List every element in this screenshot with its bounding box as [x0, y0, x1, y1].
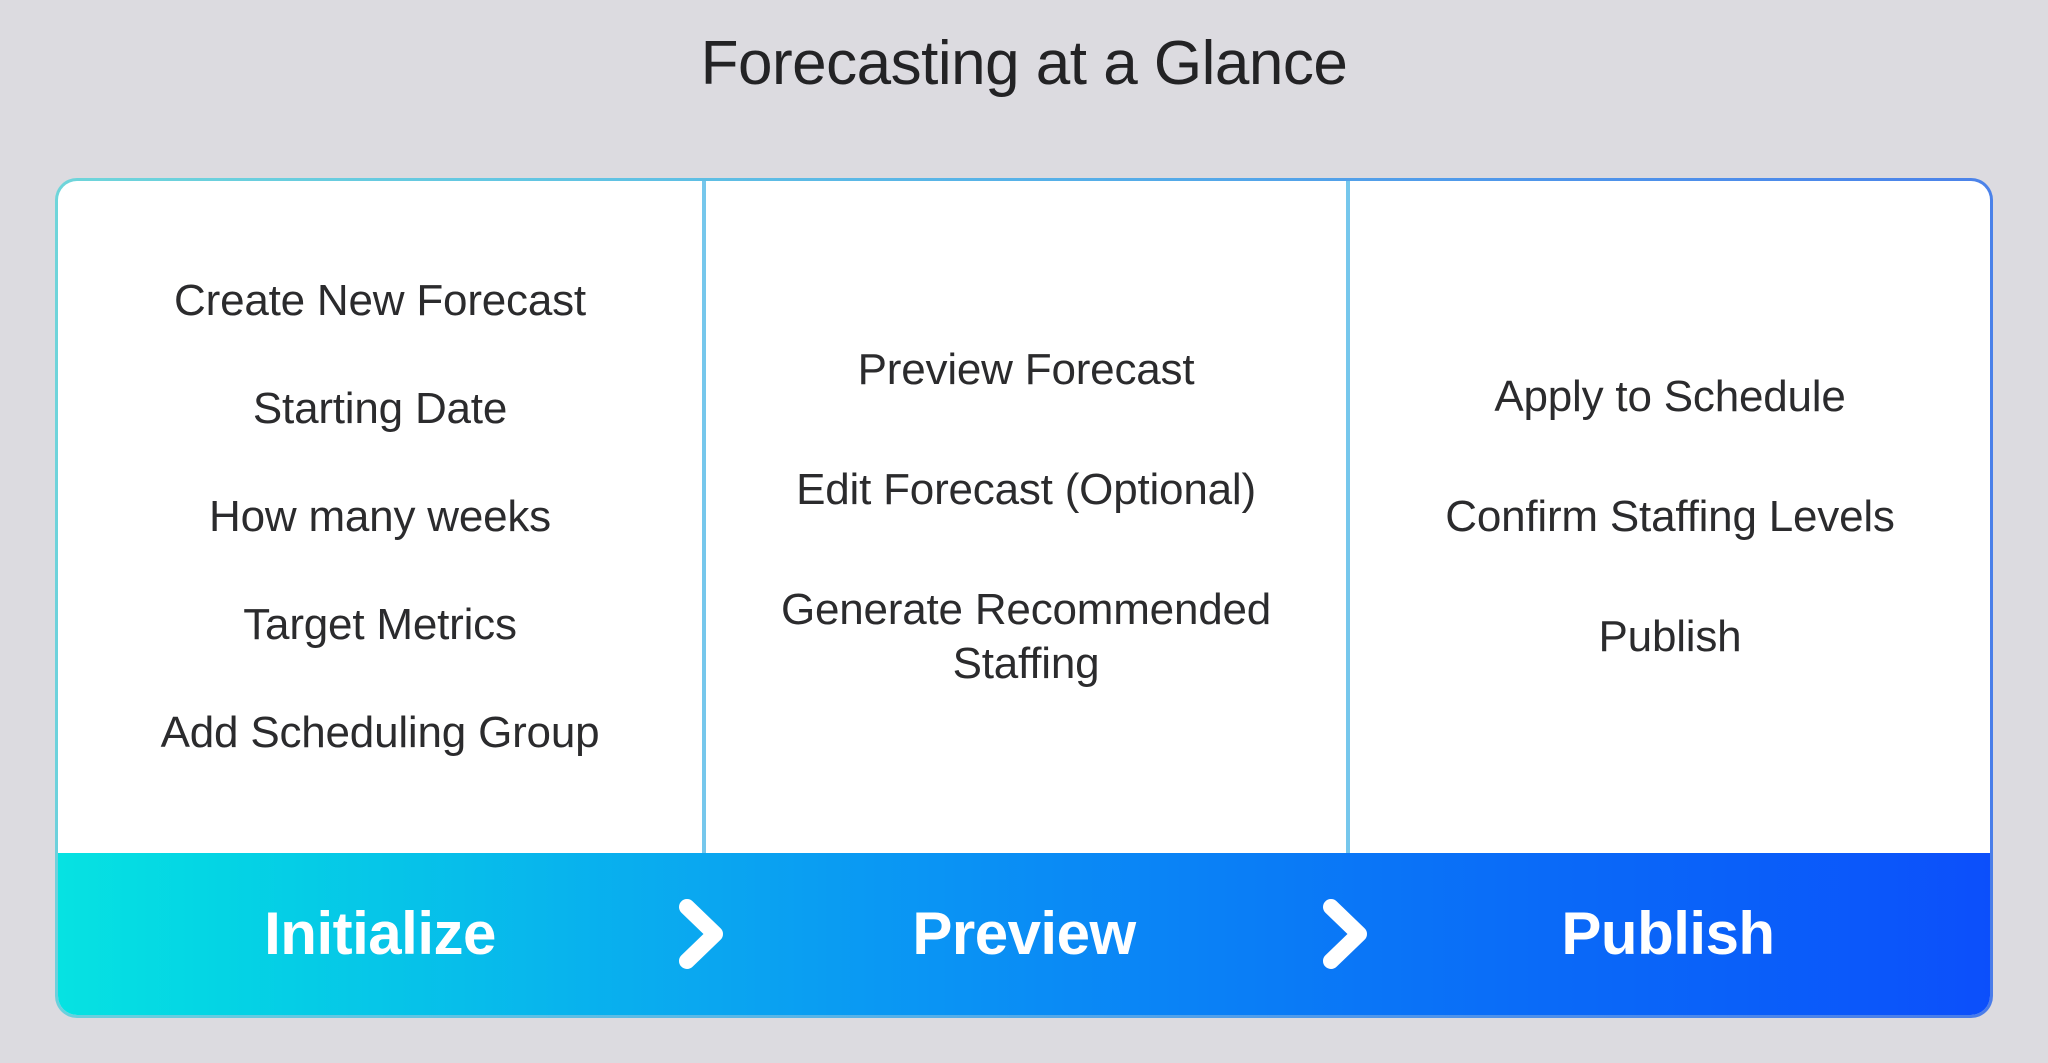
forecast-flow-card: Create New Forecast Starting Date How ma… [55, 178, 1993, 1018]
stage-columns: Create New Forecast Starting Date How ma… [58, 181, 1990, 853]
stage-column-preview: Preview Forecast Edit Forecast (Optional… [702, 181, 1346, 853]
list-item: How many weeks [84, 490, 676, 544]
stage-column-publish: Apply to Schedule Confirm Staffing Level… [1346, 181, 1990, 853]
list-item: Target Metrics [84, 598, 676, 652]
list-item: Add Scheduling Group [84, 706, 676, 760]
stage-label-preview[interactable]: Preview [702, 899, 1346, 969]
list-item: Generate Recommended Staffing [732, 583, 1320, 691]
list-item: Create New Forecast [84, 274, 676, 328]
page-title: Forecasting at a Glance [0, 24, 2048, 104]
stage-progress-bar: Initialize Preview Publish [58, 853, 1990, 1015]
stage-label-publish[interactable]: Publish [1346, 899, 1990, 969]
forecasting-overview-page: Forecasting at a Glance Create New Forec… [0, 0, 2048, 1063]
list-item: Confirm Staffing Levels [1376, 490, 1964, 544]
list-item: Starting Date [84, 382, 676, 436]
list-item: Publish [1376, 610, 1964, 664]
list-item: Edit Forecast (Optional) [732, 463, 1320, 517]
list-item: Preview Forecast [732, 343, 1320, 397]
stage-label-initialize[interactable]: Initialize [58, 899, 702, 969]
list-item: Apply to Schedule [1376, 370, 1964, 424]
stage-column-initialize: Create New Forecast Starting Date How ma… [58, 181, 702, 853]
forecast-flow-card-inner: Create New Forecast Starting Date How ma… [58, 181, 1990, 1015]
